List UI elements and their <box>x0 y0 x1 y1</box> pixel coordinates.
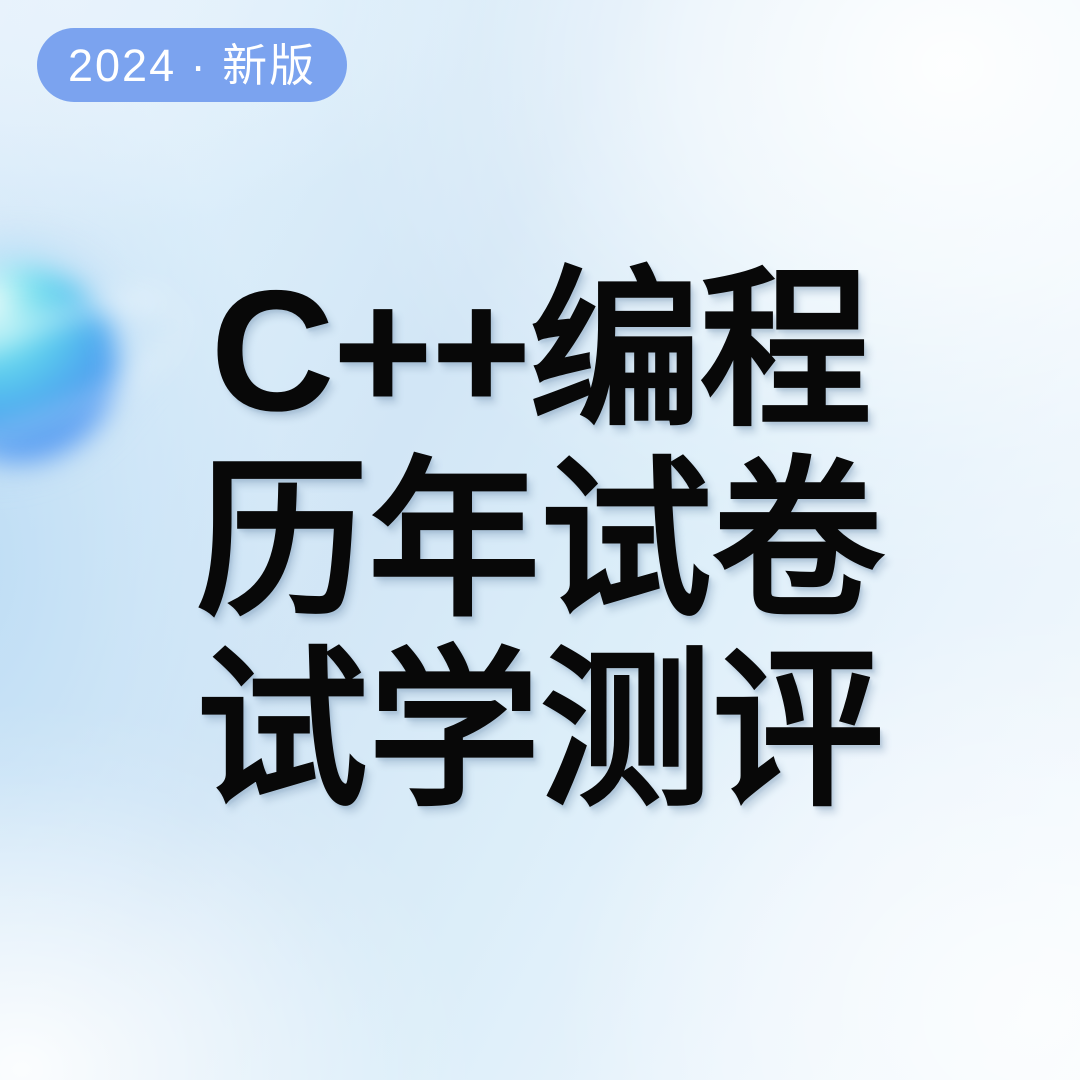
planet-sphere <box>0 267 118 463</box>
background-bottom-left-glow <box>0 0 1080 1080</box>
background-base-gradient <box>0 0 1080 1080</box>
headline-line-3: 试学测评 <box>0 636 1080 826</box>
headline-line-1: C++编程 <box>0 256 1080 446</box>
background-bottom-right-glow <box>0 0 1080 1080</box>
poster-canvas: 2024 · 新版 C++编程 历年试卷 试学测评 <box>0 0 1080 1080</box>
headline-line-2: 历年试卷 <box>0 446 1080 636</box>
background-top-tint <box>0 0 1080 1080</box>
planet-ring <box>0 270 206 478</box>
planet-ring-outer <box>0 249 234 498</box>
edition-badge-label: 2024 · 新版 <box>68 43 316 88</box>
edition-badge[interactable]: 2024 · 新版 <box>37 28 347 102</box>
background-left-blue-tint <box>0 0 1080 1080</box>
page-title: C++编程 历年试卷 试学测评 <box>0 256 1080 826</box>
background-top-right-glow <box>0 0 1080 1080</box>
planet-icon <box>0 252 224 482</box>
planet-halo <box>0 234 156 502</box>
